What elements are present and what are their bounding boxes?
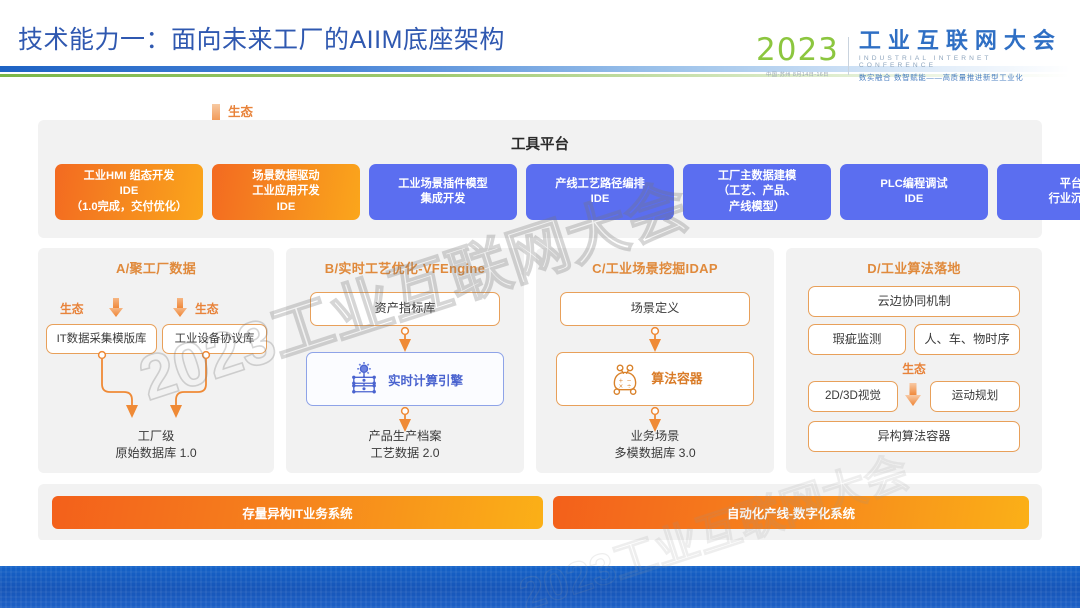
bottom-systems-panel: 存量异构IT业务系统 自动化产线-数字化系统 [38,484,1042,541]
logo-year-block: 2023 中国·苏州 8月14日-16日 [756,35,848,78]
column-c-algorithm-container-box[interactable]: +− ×÷ 算法容器 [556,352,754,406]
column-c-result-line1: 业务场景 [570,428,740,445]
column-c-title: C/工业场景挖掘IDAP [536,258,774,277]
column-b-result-line2: 工艺数据 2.0 [320,445,490,462]
tool-box-line: 行业沉淀 [1049,192,1080,207]
tool-platform-panel: 工具平台 工业HMI 组态开发 IDE （1.0完成，交付优化） 场景数据驱动 … [38,120,1042,238]
column-a-eco-label-right: 生态 [195,300,219,317]
tool-box-plc-debug-ide[interactable]: PLC编程调试 IDE [840,164,988,220]
tool-box-line: 集成开发 [421,192,466,207]
column-c-box-scene-definition[interactable]: 场景定义 [560,292,750,326]
tool-box-hmi-ide[interactable]: 工业HMI 组态开发 IDE （1.0完成，交付优化） [55,164,203,220]
column-b-box-asset-index[interactable]: 资产指标库 [310,292,500,326]
column-d-box-cloud-edge[interactable]: 云边协同机制 [808,286,1020,317]
tool-box-line: IDE [905,192,924,207]
column-a-factory-data: A/聚工厂数据 生态 生态 IT数据采集模版库 工业设备协议库 工厂级 原始数据… [38,248,274,473]
tool-box-master-data-modeling[interactable]: 工厂主数据建模 （工艺、产品、 产线模型） [683,164,831,220]
column-a-eco-label-left: 生态 [60,300,84,317]
tool-box-scene-data-app[interactable]: 场景数据驱动 工业应用开发 IDE [212,164,360,220]
tool-box-row: 工业HMI 组态开发 IDE （1.0完成，交付优化） 场景数据驱动 工业应用开… [55,164,1080,220]
column-c-scene-mining: C/工业场景挖掘IDAP 场景定义 +− ×÷ [536,248,774,473]
tool-box-line: PLC编程调试 [880,177,947,192]
tool-box-line: 场景数据驱动 [252,169,319,184]
column-b-engine-box[interactable]: 实时计算引擎 [306,352,504,406]
column-b-result-line1: 产品生产档案 [320,428,490,445]
arrow-down-icon [904,383,922,407]
tool-box-line: （1.0完成，交付优化） [71,200,187,215]
tool-platform-title: 工具平台 [38,133,1042,154]
tool-box-line: 工厂主数据建模 [718,169,796,184]
logo-conference-name-en: INDUSTRIAL INTERNET CONFERENCE [859,55,1072,69]
column-d-eco-label: 生态 [786,360,1042,377]
arrow-down-icon [172,298,188,318]
column-d-box-defect-detection[interactable]: 瑕疵监测 [808,324,906,355]
tool-box-line: IDE [120,184,139,199]
logo-slogan: 数实融合 数智赋能——高质量推进新型工业化 [859,72,1072,83]
network-gear-icon [347,362,381,396]
column-b-connector-1 [286,326,524,354]
bottom-bar-legacy-it[interactable]: 存量异构IT业务系统 [52,496,543,529]
slide-header: 技术能力一：面向未来工厂的AIIM底座架构 2023 中国·苏州 8月14日-1… [0,0,1080,90]
column-a-connectors [38,348,274,428]
tool-box-line: 产线模型） [729,200,785,215]
slide-root: 技术能力一：面向未来工厂的AIIM底座架构 2023 中国·苏州 8月14日-1… [0,0,1080,608]
footer-band [0,566,1080,608]
logo-text-block: 工业互联网大会 INDUSTRIAL INTERNET CONFERENCE 数… [849,29,1072,82]
tool-box-line: （工艺、产品、 [718,184,796,199]
tool-box-line: 产线工艺路径编排 [555,177,645,192]
tool-box-line: 工业应用开发 [252,184,319,199]
column-c-connector-1 [536,326,774,354]
robot-icon: +− ×÷ [607,362,643,396]
logo-year: 2023 [756,35,839,66]
tool-box-line: 工业场景插件模型 [398,177,488,192]
column-a-result-line1: 工厂级 [71,428,241,445]
column-a-result-cloud: 工厂级 原始数据库 1.0 [71,428,241,462]
column-c-result-cloud: 业务场景 多模数据库 3.0 [570,428,740,462]
column-b-engine-label: 实时计算引擎 [388,370,463,389]
page-title: 技术能力一：面向未来工厂的AIIM底座架构 [18,20,505,56]
column-d-box-2d3d-vision[interactable]: 2D/3D视觉 [808,381,898,412]
svg-text:÷: ÷ [627,384,632,390]
tool-box-platform-industry[interactable]: 平台 行业沉淀 [997,164,1080,220]
column-b-result-cloud: 产品生产档案 工艺数据 2.0 [320,428,490,462]
arrow-down-icon [108,298,124,318]
tool-box-process-path-ide[interactable]: 产线工艺路径编排 IDE [526,164,674,220]
tool-box-line: IDE [277,200,296,215]
column-d-box-heterogeneous-container[interactable]: 异构算法容器 [808,421,1020,452]
column-d-box-motion-planning[interactable]: 运动规划 [930,381,1020,412]
tool-box-scene-plugin-model[interactable]: 工业场景插件模型 集成开发 [369,164,517,220]
column-c-result-line2: 多模数据库 3.0 [570,445,740,462]
eco-label-top: 生态 [228,101,253,120]
column-b-realtime-process: B/实时工艺优化-VFEngine 资产指标库 [286,248,524,473]
column-a-result-line2: 原始数据库 1.0 [71,445,241,462]
tool-box-line: IDE [591,192,610,207]
column-a-title: A/聚工厂数据 [38,258,274,277]
footer-spacer [0,540,1080,566]
svg-text:×: × [619,384,624,390]
column-d-box-person-vehicle-timeseries[interactable]: 人、车、物时序 [914,324,1020,355]
column-c-container-label: 算法容器 [651,371,702,387]
column-d-title: D/工业算法落地 [786,258,1042,277]
tool-box-line: 平台 [1060,177,1080,192]
column-b-title: B/实时工艺优化-VFEngine [286,258,524,277]
logo-location-date: 中国·苏州 8月14日-16日 [766,70,829,78]
column-d-algorithm-landing: D/工业算法落地 云边协同机制 瑕疵监测 人、车、物时序 生态 2D/3D视觉 … [786,248,1042,473]
bottom-bar-automation-line[interactable]: 自动化产线-数字化系统 [553,496,1029,529]
tool-box-line: 工业HMI 组态开发 [84,169,175,184]
conference-logo: 2023 中国·苏州 8月14日-16日 工业互联网大会 INDUSTRIAL … [756,30,1072,82]
logo-conference-name: 工业互联网大会 [859,29,1072,52]
